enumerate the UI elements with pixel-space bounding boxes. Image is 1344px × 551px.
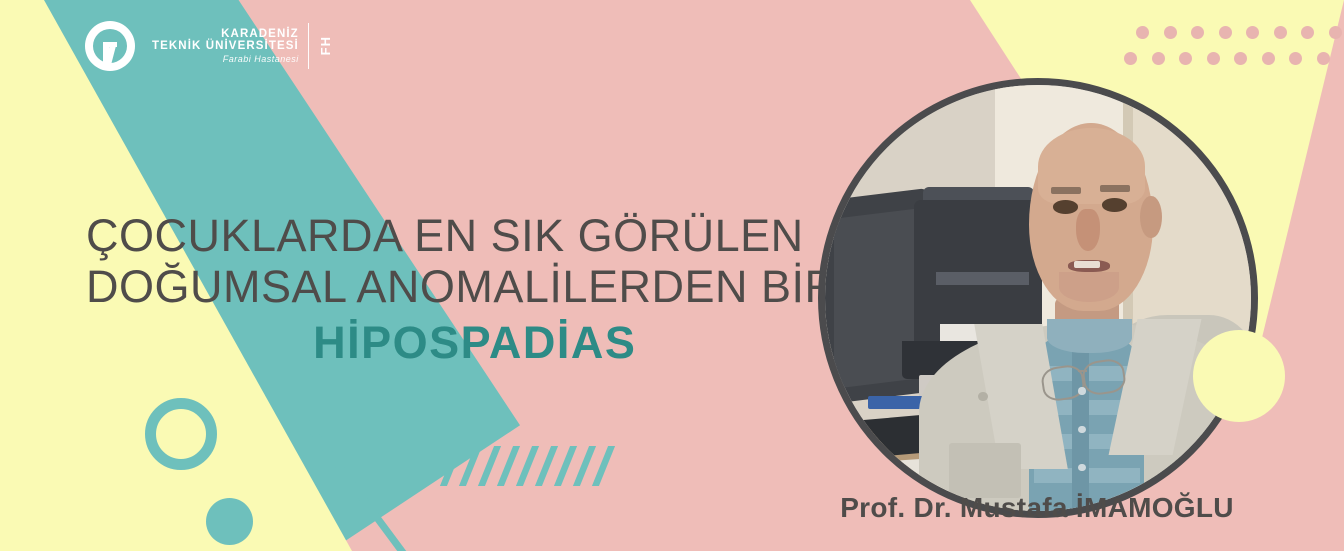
slash-mark — [592, 446, 615, 486]
ktu-logo-mark-icon — [82, 18, 138, 74]
slash-mark — [497, 446, 520, 486]
grid-dot — [1136, 26, 1149, 39]
slash-mark — [459, 446, 482, 486]
title-line-1: ÇOCUKLARDA EN SIK GÖRÜLEN — [86, 210, 864, 261]
seminar-banner: KARADENİZ TEKNİK ÜNİVERSİTESİ Farabi Has… — [0, 0, 1344, 551]
logo-divider — [308, 23, 310, 69]
slash-pattern-decoration — [410, 446, 607, 486]
grid-dot — [1289, 52, 1302, 65]
grid-dot — [1124, 52, 1137, 65]
logo-line-2: TEKNİK ÜNİVERSİTESİ — [152, 40, 299, 53]
presenter-portrait — [818, 78, 1258, 518]
slash-mark — [478, 446, 501, 486]
teal-filled-circle-icon — [206, 498, 253, 545]
grid-dot — [1207, 52, 1220, 65]
logo-abbreviation: FH — [318, 36, 333, 55]
grid-dot — [1262, 52, 1275, 65]
logo-line-3: Farabi Hastanesi — [152, 54, 299, 64]
slash-mark — [516, 446, 539, 486]
slash-mark — [440, 446, 463, 486]
grid-dot — [1152, 52, 1165, 65]
logo-line-1: KARADENİZ — [152, 28, 299, 41]
slash-mark — [554, 446, 577, 486]
grid-dot — [1329, 26, 1342, 39]
grid-dot — [1317, 52, 1330, 65]
grid-dot — [1246, 26, 1259, 39]
logo-wordmark: KARADENİZ TEKNİK ÜNİVERSİTESİ Farabi Has… — [152, 23, 333, 69]
dot-grid-decoration — [1124, 26, 1334, 78]
grid-dot — [1164, 26, 1177, 39]
grid-dot — [1301, 26, 1314, 39]
teal-outline-circle-icon — [145, 398, 217, 470]
yellow-filled-circle-icon — [1193, 330, 1285, 422]
slash-mark — [535, 446, 558, 486]
grid-dot — [1191, 26, 1204, 39]
grid-dot — [1179, 52, 1192, 65]
slash-mark — [421, 446, 444, 486]
grid-dot — [1274, 26, 1287, 39]
title-line-2: DOĞUMSAL ANOMALİLERDEN BİRİ: — [86, 261, 864, 312]
title-highlight-topic: HİPOSPADİAS — [86, 317, 864, 368]
seminar-title: ÇOCUKLARDA EN SIK GÖRÜLEN DOĞUMSAL ANOMA… — [86, 210, 864, 368]
presenter-name: Prof. Dr. Mustafa İMAMOĞLU — [822, 492, 1252, 524]
slash-mark — [573, 446, 596, 486]
grid-dot — [1219, 26, 1232, 39]
grid-dot — [1234, 52, 1247, 65]
university-logo: KARADENİZ TEKNİK ÜNİVERSİTESİ Farabi Has… — [82, 18, 333, 74]
logo-name-block: KARADENİZ TEKNİK ÜNİVERSİTESİ Farabi Has… — [152, 28, 299, 65]
